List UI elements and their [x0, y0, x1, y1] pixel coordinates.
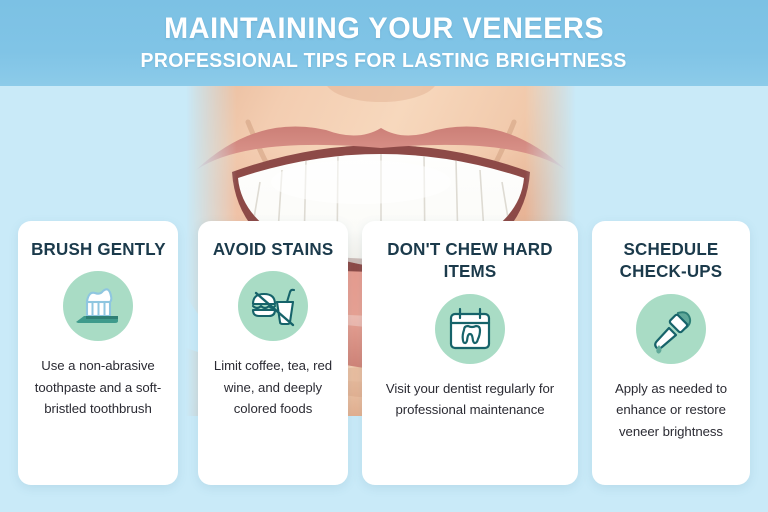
tip-card-body: Limit coffee, tea, red wine, and deeply …	[208, 355, 338, 419]
header-banner: MAINTAINING YOUR VENEERS PROFESSIONAL TI…	[0, 0, 768, 86]
tip-card-body: Visit your dentist regularly for profess…	[372, 378, 568, 421]
tip-card-title: AVOID STAINS	[213, 238, 334, 260]
tip-card-brush-gently[interactable]: BRUSH GENTLY Use a non-a	[18, 221, 178, 485]
tip-card-avoid-stains[interactable]: AVOID STAINS Limit	[198, 221, 348, 485]
tip-card-body: Apply as needed to enhance or restore ve…	[602, 378, 740, 442]
tip-card-dont-chew-hard-items[interactable]: DON'T CHEW HARD ITEMS Visit your dentist…	[362, 221, 578, 485]
page-title: MAINTAINING YOUR VENEERS	[164, 13, 604, 45]
tip-card-schedule-check-ups[interactable]: SCHEDULE CHECK-UPS Apply as needed to en…	[592, 221, 750, 485]
dropper-icon	[636, 294, 706, 364]
tip-card-title: SCHEDULE CHECK-UPS	[604, 238, 738, 283]
no-staining-food-icon	[238, 271, 308, 341]
toothbrush-icon	[63, 271, 133, 341]
tip-card-title: BRUSH GENTLY	[31, 238, 166, 260]
calendar-tooth-icon	[435, 294, 505, 364]
tip-card-body: Use a non-abrasive toothpaste and a soft…	[28, 355, 168, 419]
tip-card-title: DON'T CHEW HARD ITEMS	[375, 238, 565, 283]
tips-card-row: BRUSH GENTLY Use a non-a	[0, 221, 768, 485]
page-subtitle: PROFESSIONAL TIPS FOR LASTING BRIGHTNESS	[141, 50, 627, 73]
infographic-poster: MAINTAINING YOUR VENEERS PROFESSIONAL TI…	[0, 0, 768, 512]
